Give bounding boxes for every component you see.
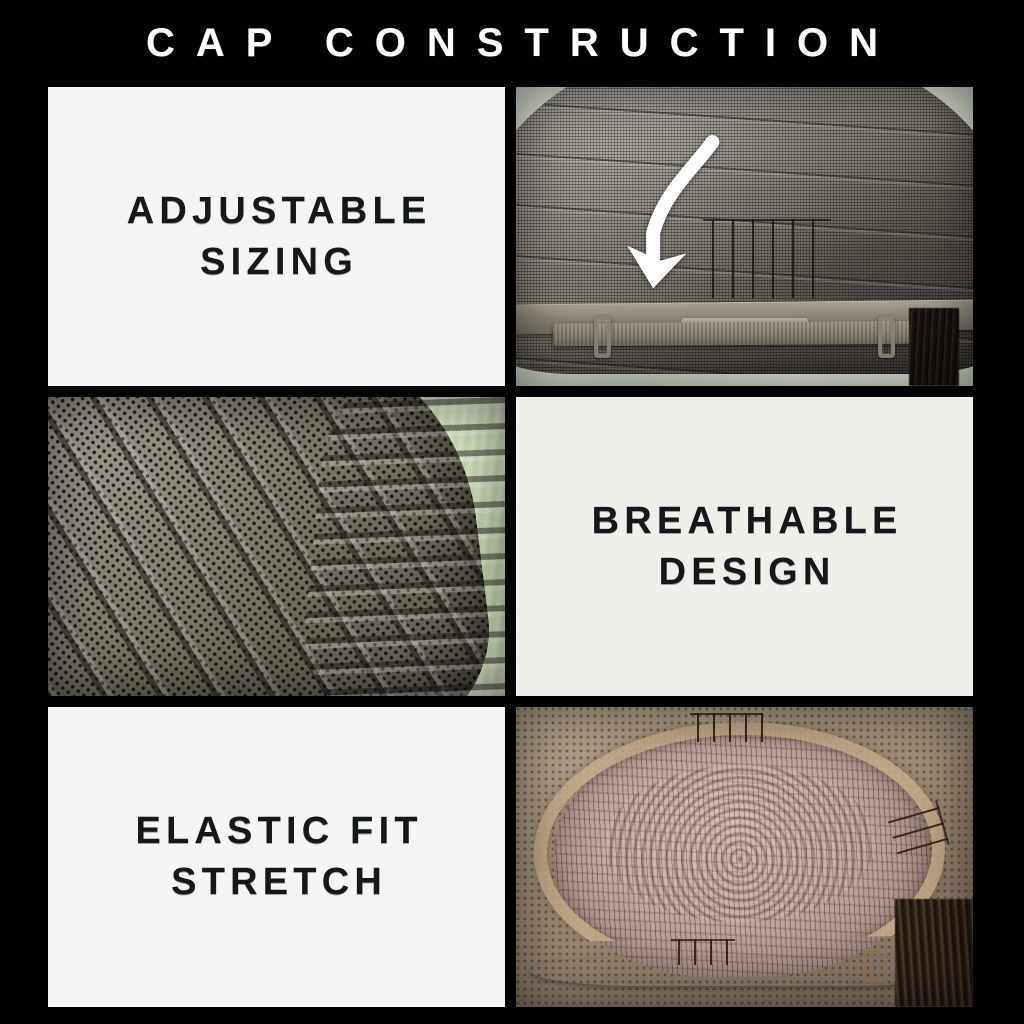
feature-label-elastic-fit-stretch: ELASTIC FIT STRETCH xyxy=(130,806,422,908)
feature-label-adjustable-sizing: ADJUSTABLE SIZING xyxy=(122,186,432,288)
feature-label-line-1: ADJUSTABLE xyxy=(122,186,432,237)
cap-construction-poster: CAP CONSTRUCTION ADJUSTABLE SIZING xyxy=(0,0,1024,1024)
hair-comb-top-icon xyxy=(690,713,763,742)
feature-card-breathable-design: BREATHABLE DESIGN xyxy=(516,397,973,696)
feature-card-elastic-fit-stretch: ELASTIC FIT STRETCH xyxy=(48,707,505,1007)
strap-buckle-right xyxy=(878,316,895,358)
strap-buckle-left xyxy=(594,316,611,358)
poster-header: CAP CONSTRUCTION xyxy=(0,0,1024,86)
hair-strands xyxy=(909,308,959,386)
photo-canvas xyxy=(516,707,973,1007)
photo-cap-adjustable-straps xyxy=(516,87,973,386)
hair-strands xyxy=(895,899,973,1007)
band-clasp-icon xyxy=(864,951,886,983)
feature-label-line-2: DESIGN xyxy=(586,547,902,598)
feature-label-line-1: ELASTIC FIT xyxy=(130,806,422,857)
photo-breathable-mesh-closeup xyxy=(48,397,505,696)
photo-canvas xyxy=(48,397,505,696)
feature-grid: ADJUSTABLE SIZING xyxy=(48,87,973,1006)
feature-card-adjustable-sizing: ADJUSTABLE SIZING xyxy=(48,87,505,386)
feature-label-line-2: SIZING xyxy=(122,237,432,288)
page-title: CAP CONSTRUCTION xyxy=(125,23,899,63)
feature-label-breathable-design: BREATHABLE DESIGN xyxy=(586,496,902,598)
curved-down-arrow-icon xyxy=(594,129,749,314)
photo-canvas xyxy=(516,87,973,386)
gathered-fabric-folds xyxy=(295,397,505,696)
feature-label-line-1: BREATHABLE xyxy=(586,496,902,547)
feature-label-line-2: STRETCH xyxy=(130,857,422,908)
photo-cap-interior-elastic xyxy=(516,707,973,1007)
